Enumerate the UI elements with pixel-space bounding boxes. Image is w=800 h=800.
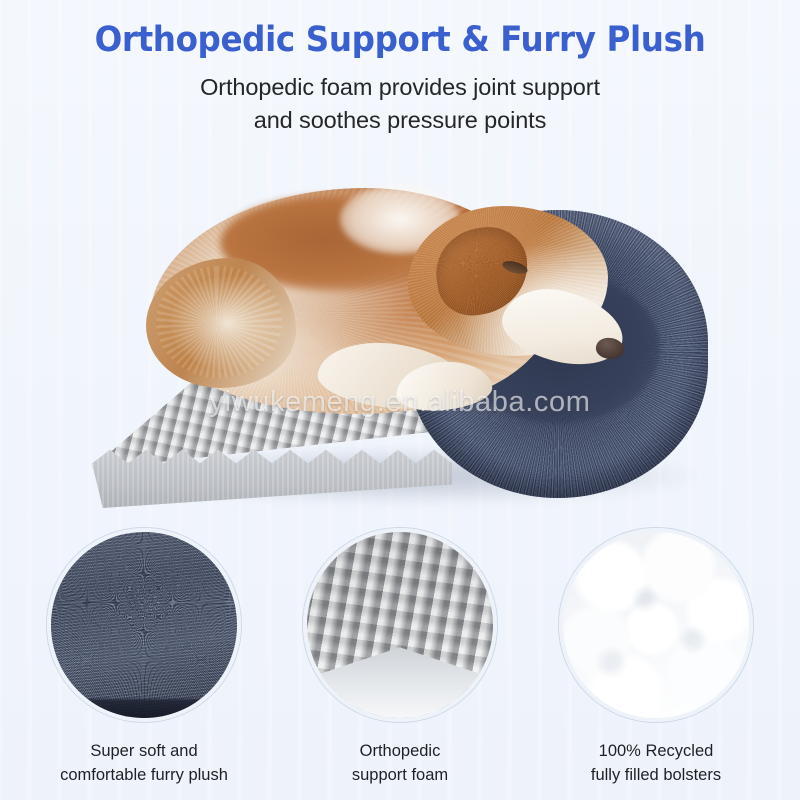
feature-item-furry-plush: Super soft and comfortable furry plush: [38, 528, 250, 800]
recycled-fiber-shadows: [563, 532, 749, 718]
header: Orthopedic Support & Furry Plush Orthope…: [0, 0, 800, 148]
page-subtitle: Orthopedic foam provides joint support a…: [0, 71, 800, 137]
feature-thumbnail-support-foam: [303, 528, 497, 722]
hero-product-photo: yiwukemeng.en.alibaba.com: [0, 148, 800, 520]
dog-tail-swirl: [156, 266, 282, 378]
feature-highlights: Super soft and comfortable furry plush O…: [0, 528, 800, 800]
feature-thumbnail-furry-plush: [47, 528, 241, 722]
feature-caption: Orthopedic support foam: [352, 739, 448, 787]
page-title: Orthopedic Support & Furry Plush: [28, 20, 772, 60]
product-infographic-page: Orthopedic Support & Furry Plush Orthope…: [0, 0, 800, 800]
navy-plush-bottom-edge: [47, 699, 241, 721]
feature-caption: 100% Recycled fully filled bolsters: [591, 739, 721, 787]
foam-front-edge-grain: [92, 446, 452, 508]
feature-caption: Super soft and comfortable furry plush: [60, 739, 228, 787]
feature-item-recycled-bolsters: 100% Recycled fully filled bolsters: [550, 528, 762, 800]
feature-item-support-foam: Orthopedic support foam: [294, 528, 506, 800]
navy-plush-strand-overlay: [51, 532, 237, 718]
sleeping-dog: [150, 166, 670, 436]
feature-thumbnail-recycled-fiber: [559, 528, 753, 722]
